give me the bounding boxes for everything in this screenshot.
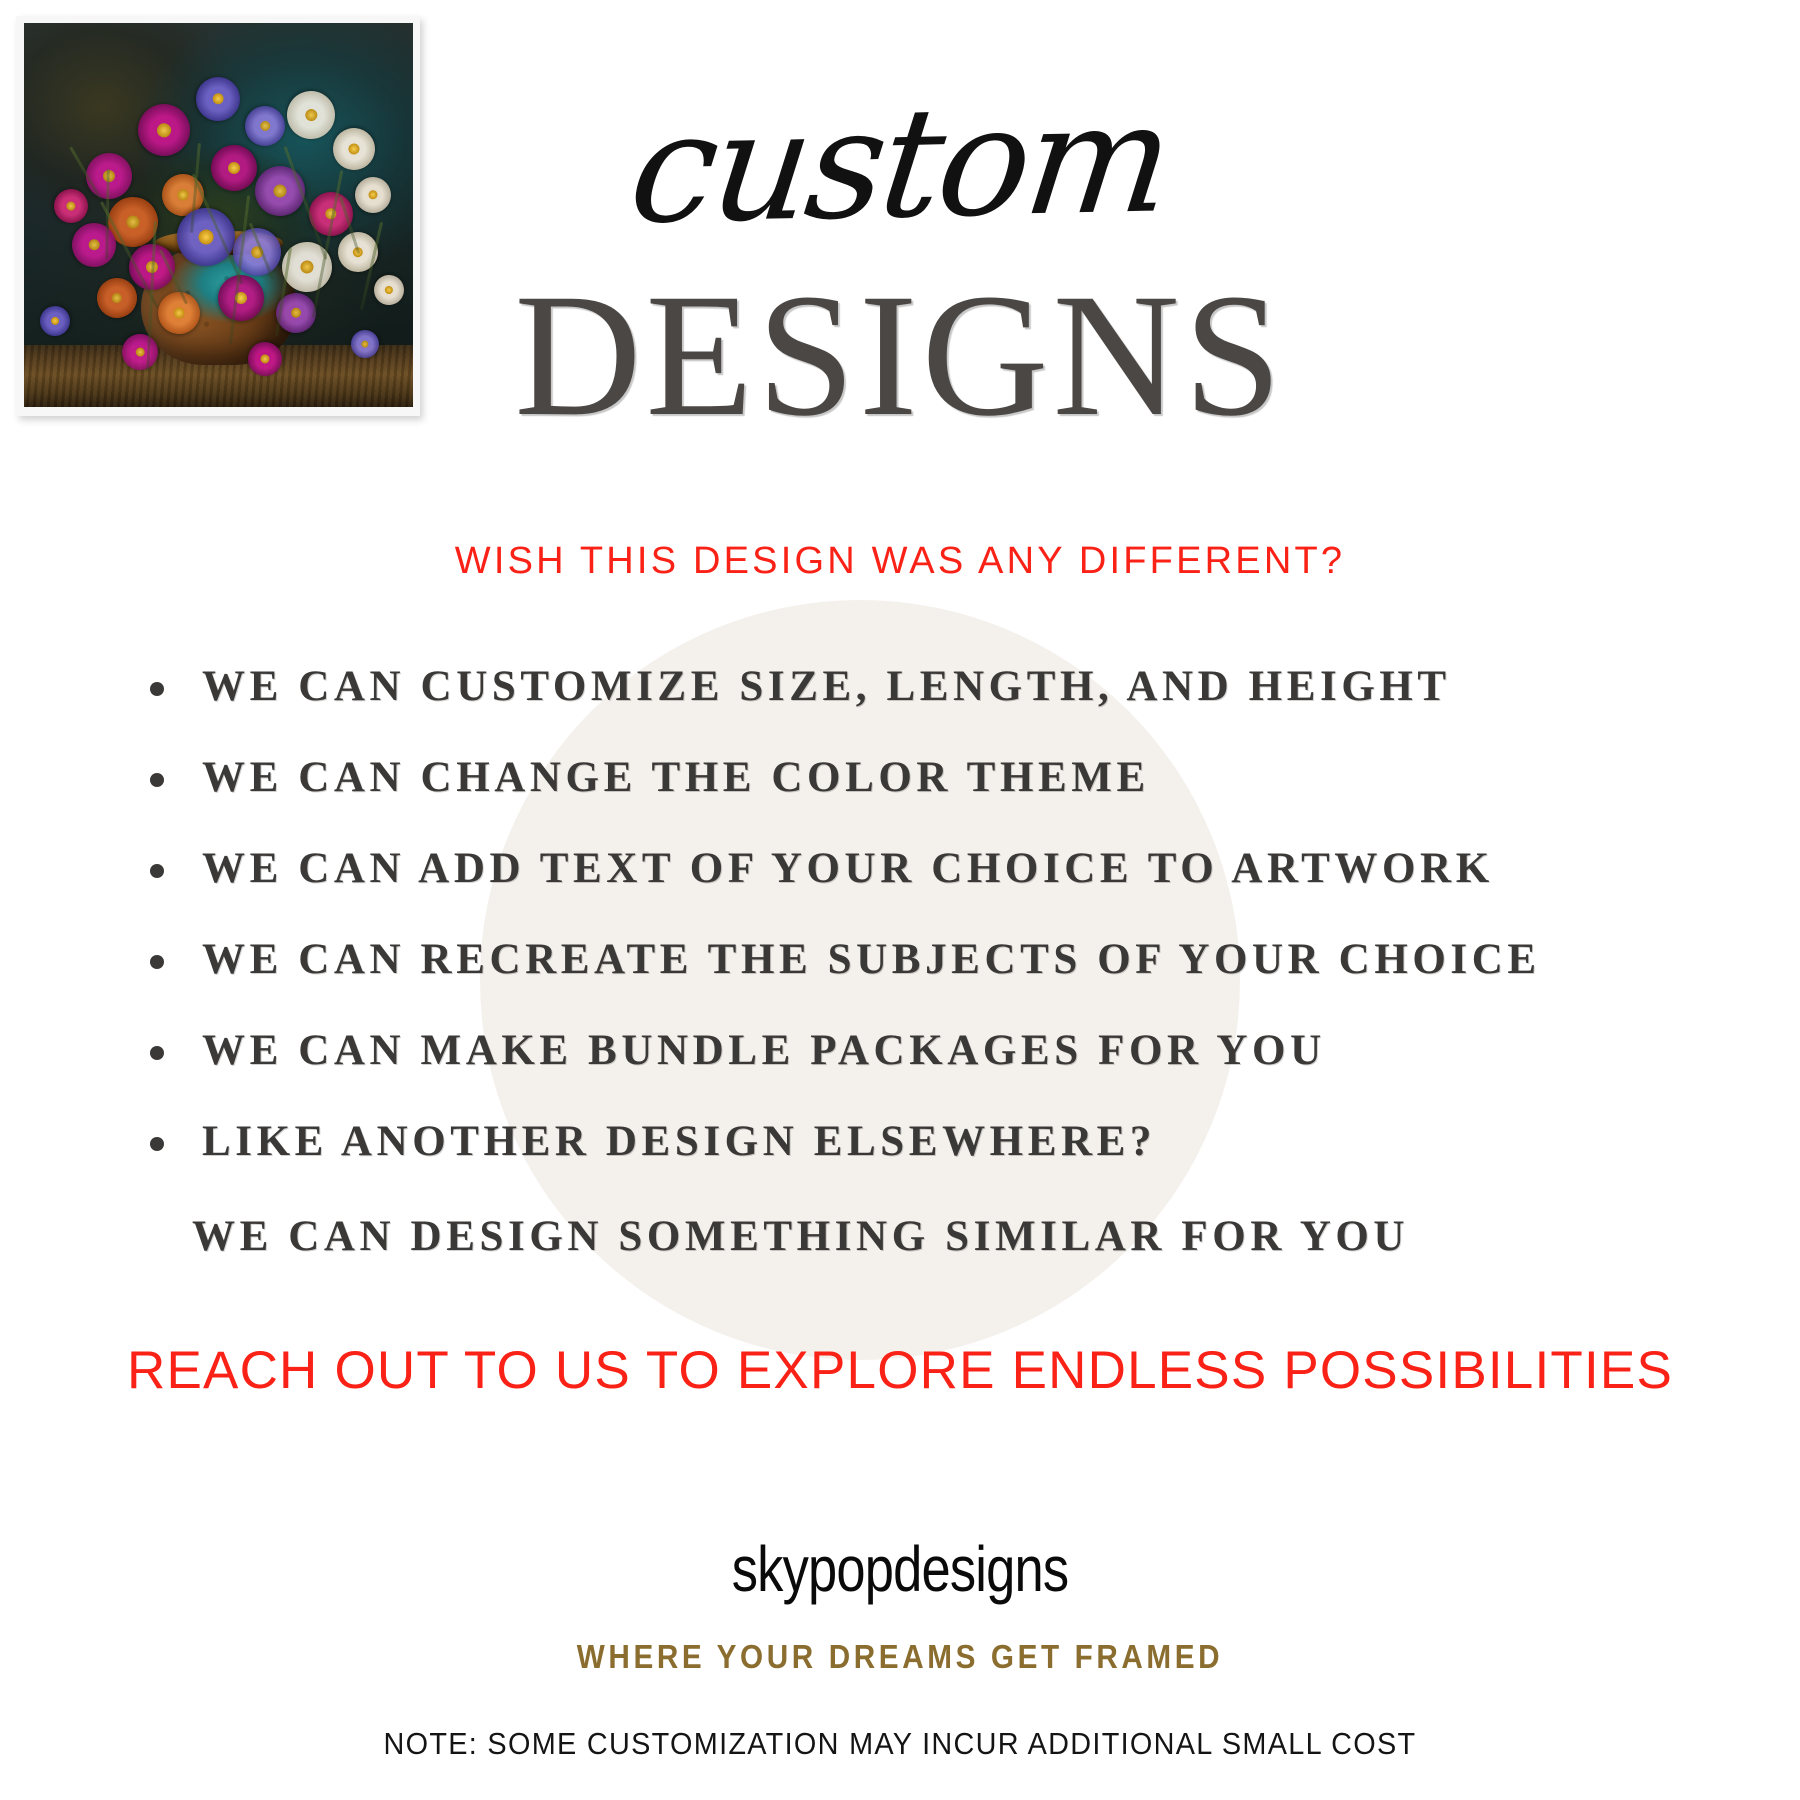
bullet-dot-icon	[150, 682, 164, 696]
brand-name: skypopdesigns	[162, 1532, 1638, 1606]
brand-tagline: WHERE YOUR DREAMS GET FRAMED	[90, 1638, 1710, 1676]
bullet-dot-icon	[150, 955, 164, 969]
feature-list-item: WE CAN MAKE BUNDLE PACKAGES FOR YOU	[150, 1026, 1650, 1075]
bullet-dot-icon	[150, 1137, 164, 1151]
feature-list-item-label: WE CAN MAKE BUNDLE PACKAGES FOR YOU	[202, 1027, 1326, 1074]
artwork-canvas	[24, 23, 413, 407]
feature-list-item-label: WE CAN CUSTOMIZE SIZE, LENGTH, AND HEIGH…	[202, 663, 1451, 710]
feature-list: WE CAN CUSTOMIZE SIZE, LENGTH, AND HEIGH…	[150, 662, 1650, 1208]
footnote: NOTE: SOME CUSTOMIZATION MAY INCUR ADDIT…	[63, 1726, 1737, 1762]
tagline-question: WISH THIS DESIGN WAS ANY DIFFERENT?	[0, 540, 1800, 583]
feature-continuation-line: WE CAN DESIGN SOMETHING SIMILAR FOR YOU	[192, 1212, 1409, 1261]
feature-list-item: LIKE ANOTHER DESIGN ELSEWHERE?	[150, 1117, 1650, 1166]
feature-list-item: WE CAN ADD TEXT OF YOUR CHOICE TO ARTWOR…	[150, 844, 1650, 893]
bullet-dot-icon	[150, 1046, 164, 1060]
feature-list-item: WE CAN RECREATE THE SUBJECTS OF YOUR CHO…	[150, 935, 1650, 984]
artwork-thumbnail-card	[16, 16, 420, 416]
cta-line: REACH OUT TO US TO EXPLORE ENDLESS POSSI…	[0, 1340, 1800, 1401]
feature-list-item-label: WE CAN ADD TEXT OF YOUR CHOICE TO ARTWOR…	[202, 845, 1494, 892]
feature-list-item-label: LIKE ANOTHER DESIGN ELSEWHERE?	[202, 1118, 1156, 1165]
feature-list-item: WE CAN CUSTOMIZE SIZE, LENGTH, AND HEIGH…	[150, 662, 1650, 711]
feature-list-item-label: WE CAN RECREATE THE SUBJECTS OF YOUR CHO…	[202, 936, 1541, 983]
feature-list-item-label: WE CAN CHANGE THE COLOR THEME	[202, 754, 1150, 801]
feature-list-item: WE CAN CHANGE THE COLOR THEME	[150, 753, 1650, 802]
bullet-dot-icon	[150, 773, 164, 787]
bullet-dot-icon	[150, 864, 164, 878]
